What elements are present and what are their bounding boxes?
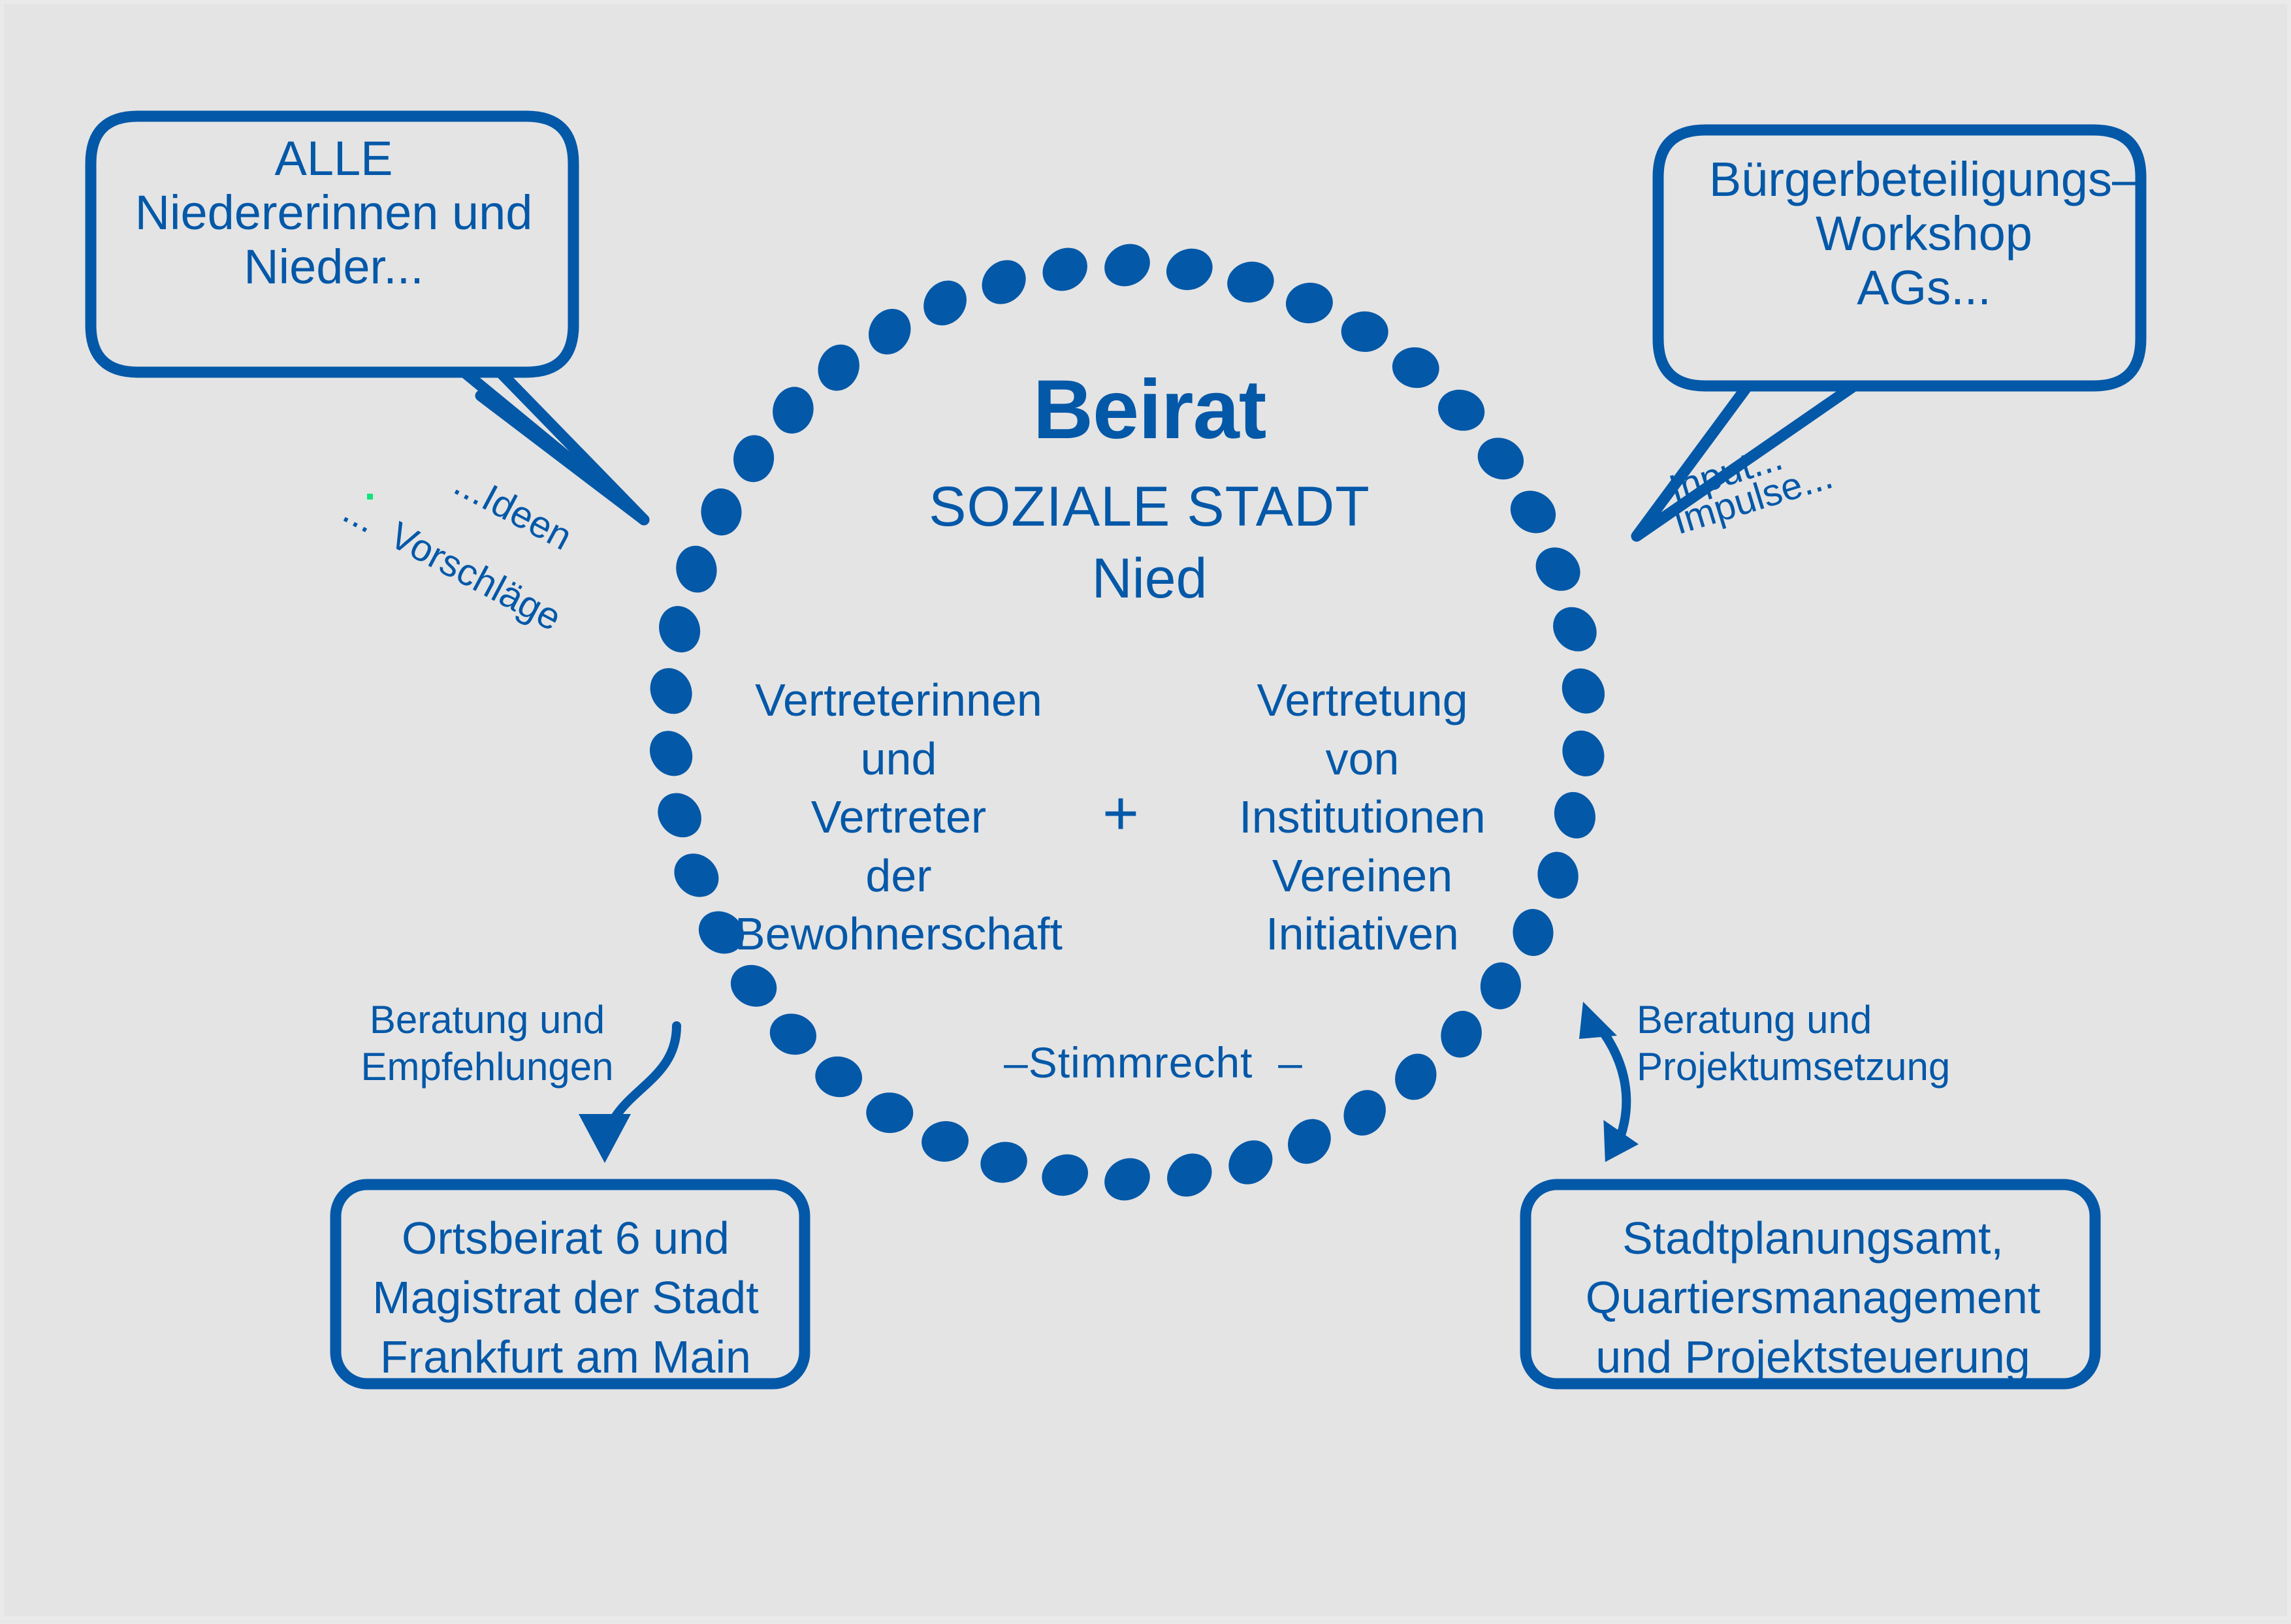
ring-dot bbox=[641, 723, 701, 784]
members-institutions-column: Vertretung von Institutionen Vereinen In… bbox=[1179, 671, 1545, 964]
ring-dot bbox=[1223, 257, 1278, 308]
ring-dot bbox=[861, 301, 919, 362]
subtitle-soziale-stadt: SOZIALE STADT bbox=[823, 475, 1476, 538]
ring-dot bbox=[1220, 1132, 1282, 1194]
ring-dot bbox=[1471, 430, 1530, 486]
bottom-right-box-label: Stadtplanungsamt, Quartiersmanagement un… bbox=[1545, 1209, 2081, 1387]
ring-dot bbox=[976, 1137, 1032, 1188]
members-residents-column: Vertreterinnen und Vertreter der Bewohne… bbox=[696, 671, 1101, 964]
ring-dot bbox=[724, 957, 783, 1013]
diagram-canvas: ALLE Niedererinnen und Nieder... Bürgerb… bbox=[0, 0, 2291, 1620]
ring-dot bbox=[866, 1092, 914, 1134]
ring-dot bbox=[1279, 1111, 1340, 1173]
ring-dot bbox=[700, 488, 743, 537]
ring-dot bbox=[1034, 239, 1096, 300]
ring-dot bbox=[672, 543, 720, 596]
subtitle-nied: Nied bbox=[823, 547, 1476, 610]
ring-dot bbox=[1479, 961, 1523, 1011]
ring-dot bbox=[1554, 660, 1614, 722]
label-beratung-projektumsetzung: Beratung und Projektumsetzung bbox=[1637, 996, 1976, 1091]
plus-operator: + bbox=[1085, 782, 1157, 845]
ring-dot bbox=[1544, 598, 1605, 660]
ring-dot bbox=[1097, 236, 1157, 295]
ring-dot bbox=[1284, 280, 1336, 326]
bottom-left-box-label: Ortsbeirat 6 und Magistrat der Stadt Fra… bbox=[344, 1209, 788, 1387]
ring-dot bbox=[915, 272, 976, 334]
ring-dot bbox=[653, 601, 706, 658]
stimmrecht-note: –Stimmrecht – bbox=[918, 1039, 1388, 1087]
page-title: Beirat bbox=[823, 363, 1476, 456]
ring-dot bbox=[1388, 1047, 1443, 1106]
ring-dot bbox=[1527, 539, 1589, 600]
ring-dot bbox=[973, 251, 1035, 313]
ring-dot bbox=[1160, 242, 1219, 297]
ring-dot bbox=[1159, 1145, 1221, 1205]
ring-dot bbox=[1036, 1147, 1095, 1203]
ring-dot bbox=[812, 1053, 865, 1101]
ring-dot bbox=[1548, 786, 1601, 844]
ring-dot bbox=[768, 383, 818, 438]
ring-dot bbox=[1502, 482, 1563, 541]
speech-bubble-left-label: ALLE Niedererinnen und Nieder... bbox=[95, 132, 572, 295]
ring-dot bbox=[920, 1119, 971, 1164]
ring-dot bbox=[1341, 311, 1388, 353]
label-beratung-empfehlungen: Beratung und Empfehlungen bbox=[344, 996, 631, 1091]
speech-bubble-right-label: Bürgerbeteiligungs– Workshop AGs... bbox=[1695, 153, 2153, 315]
arrow-beratung-projektumsetzung bbox=[1579, 1002, 1639, 1162]
ring-dot bbox=[1436, 1007, 1486, 1062]
ring-dot bbox=[1555, 724, 1612, 784]
ring-dot bbox=[1336, 1083, 1394, 1143]
ring-dot bbox=[1097, 1150, 1157, 1209]
ring-dot bbox=[731, 434, 776, 484]
ring-dot bbox=[643, 661, 699, 721]
ring-dot bbox=[765, 1008, 822, 1060]
